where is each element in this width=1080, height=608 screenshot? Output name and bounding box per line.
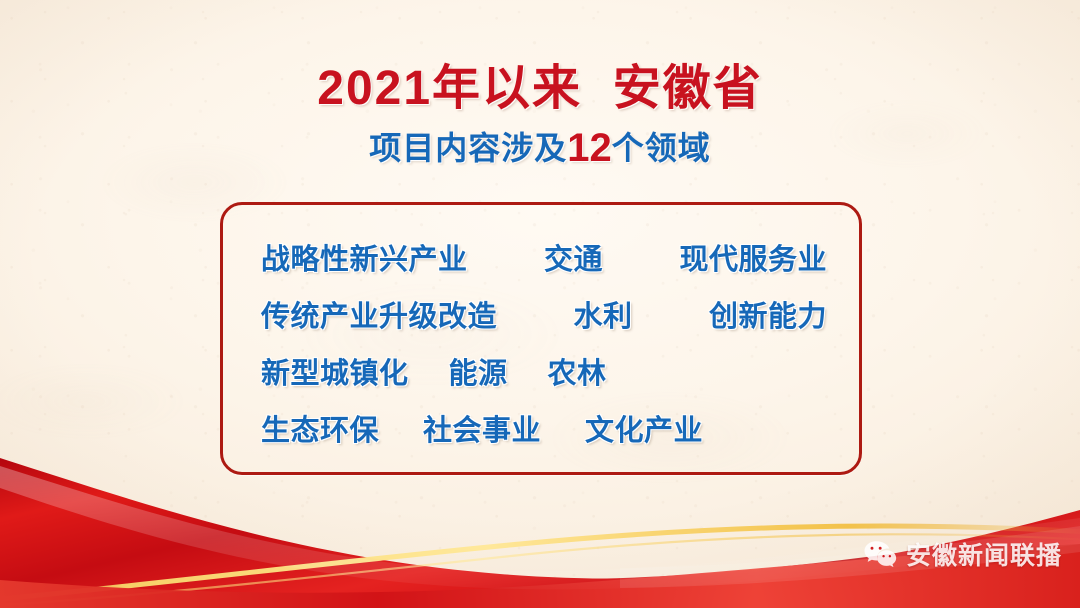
field-item: 创新能力 (709, 293, 827, 335)
page-title: 2021年以来 安徽省 (0, 62, 1080, 116)
field-item: 现代服务业 (679, 236, 827, 278)
fields-frame: 战略性新兴产业 交通 现代服务业 传统产业升级改造 水利 创新能力 新型城镇化 … (220, 202, 862, 475)
field-item: 传统产业升级改造 (261, 293, 497, 335)
subtitle-count: 12 (567, 126, 612, 170)
fields-row: 生态环保 社会事业 文化产业 (261, 399, 827, 456)
watermark: 安徽新闻联播 (863, 536, 1062, 572)
field-item: 水利 (573, 293, 632, 335)
field-item: 能源 (449, 350, 508, 392)
page-subtitle: 项目内容涉及12个领域 (0, 124, 1080, 172)
field-item: 农林 (548, 350, 607, 392)
subtitle-prefix: 项目内容涉及 (369, 130, 567, 166)
field-item: 交通 (544, 236, 603, 278)
watermark-label: 安徽新闻联播 (906, 536, 1062, 572)
subtitle-suffix: 个领域 (612, 130, 711, 166)
field-item: 社会事业 (423, 407, 541, 449)
fields-row: 战略性新兴产业 交通 现代服务业 (261, 228, 827, 285)
heading-block: 2021年以来 安徽省 项目内容涉及12个领域 (0, 62, 1080, 172)
fields-row: 新型城镇化 能源 农林 (261, 342, 827, 399)
field-item: 战略性新兴产业 (261, 236, 468, 278)
wechat-icon (863, 539, 897, 569)
field-item: 新型城镇化 (261, 350, 409, 392)
fields-row: 传统产业升级改造 水利 创新能力 (261, 285, 827, 342)
field-item: 文化产业 (585, 407, 703, 449)
fields-list: 战略性新兴产业 交通 现代服务业 传统产业升级改造 水利 创新能力 新型城镇化 … (223, 205, 865, 478)
infographic-slide: 2021年以来 安徽省 项目内容涉及12个领域 战略性新兴产业 交通 现代服务业… (0, 0, 1080, 608)
field-item: 生态环保 (261, 407, 379, 449)
